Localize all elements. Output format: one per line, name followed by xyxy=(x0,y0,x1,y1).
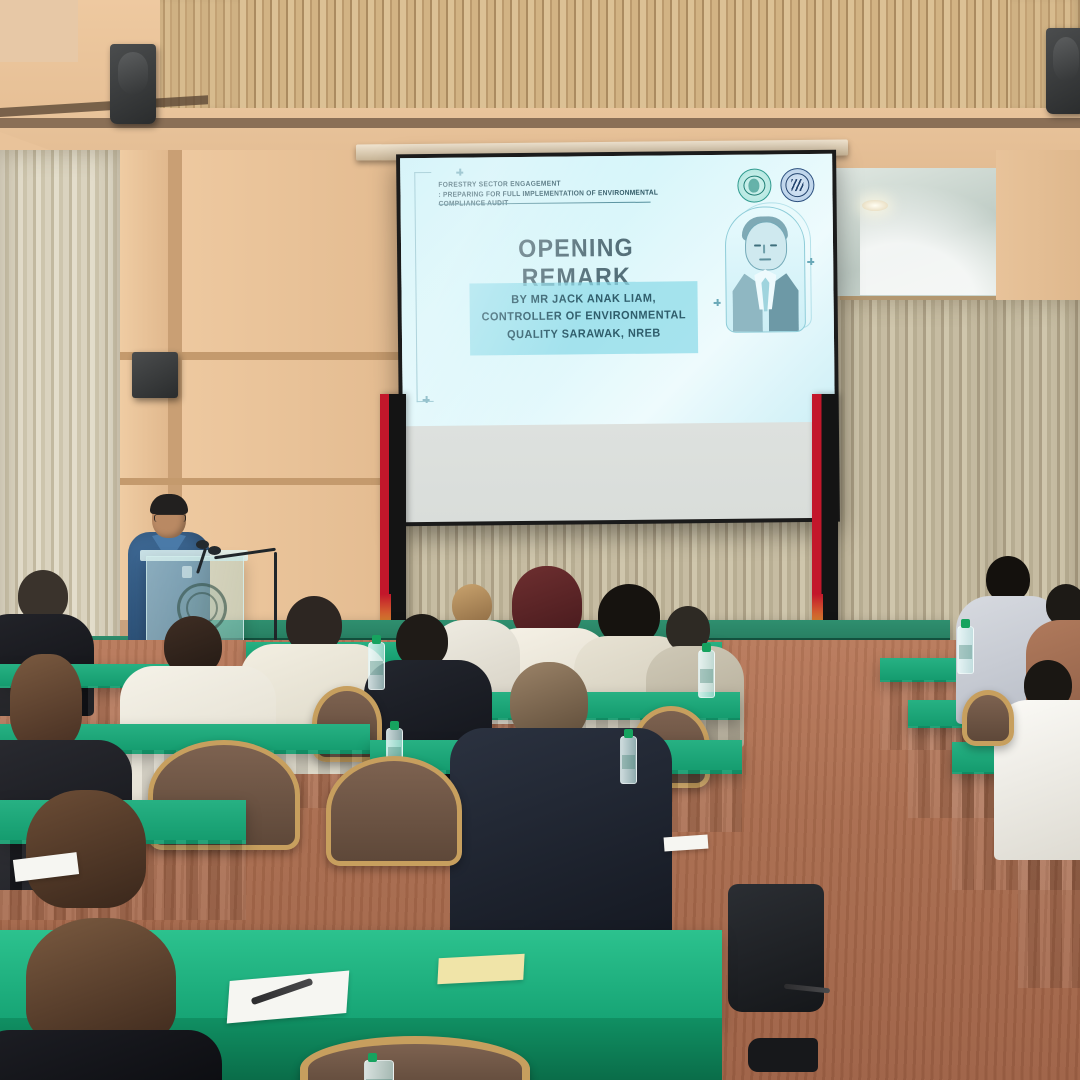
portrait-eye-right xyxy=(770,244,777,246)
portrait-arch-frame xyxy=(725,206,806,333)
portrait-nose xyxy=(763,244,765,253)
chair xyxy=(326,756,462,866)
ceiling-beam xyxy=(0,118,1080,128)
portrait-eye-left xyxy=(754,244,761,246)
ceiling-wood-slats-inner xyxy=(240,0,1010,112)
slide-bracket-decor xyxy=(414,172,433,402)
sarawak-flag-left xyxy=(380,394,406,640)
plus-tick-icon xyxy=(423,396,430,403)
portrait-body xyxy=(732,265,799,332)
microphone-head-left xyxy=(196,540,209,549)
slide-logo-group xyxy=(737,168,814,203)
water-bottle xyxy=(364,1060,394,1080)
upper-wall-left-corner xyxy=(0,0,78,62)
shoe xyxy=(748,1038,818,1072)
plus-tick-icon xyxy=(714,299,721,306)
column-speaker-left xyxy=(132,352,178,398)
slide-subtitle-line3: QUALITY SARAWAK, NREB xyxy=(476,325,693,345)
screen-surface: FORESTRY SECTOR ENGAGEMENT : PREPARING F… xyxy=(400,154,836,523)
water-bottle xyxy=(620,736,637,784)
microphone-head-right xyxy=(208,546,221,555)
slide-footer xyxy=(443,394,499,410)
conference-hall-photo: FORESTRY SECTOR ENGAGEMENT : PREPARING F… xyxy=(0,0,1080,1080)
portrait-head xyxy=(745,221,788,270)
slide-subtitle-line2: CONTROLLER OF ENVIRONMENTAL xyxy=(475,307,692,327)
wall-trim-lower xyxy=(120,478,405,485)
note-card xyxy=(437,954,524,985)
wall-speaker-left xyxy=(110,44,156,124)
backpack xyxy=(728,884,824,1012)
nreb-logo-icon xyxy=(737,168,771,202)
sarawak-flag-right xyxy=(812,394,838,640)
microphone-stand-pole xyxy=(274,552,277,652)
plus-tick-icon xyxy=(456,169,463,176)
ceiling-spotlight xyxy=(862,200,888,211)
water-bottle xyxy=(957,626,974,674)
table-skirt xyxy=(1018,838,1080,988)
speaker-portrait-illustration xyxy=(725,206,804,331)
slide-footer-line2 xyxy=(443,402,499,410)
wall-speaker-right xyxy=(1046,28,1080,114)
portrait-mouth xyxy=(759,258,771,260)
slide-header-line2: : PREPARING FOR FULL IMPLEMENTATION OF E… xyxy=(438,187,677,209)
speaker-eyeglasses xyxy=(154,514,186,522)
water-bottle xyxy=(368,642,385,690)
slide-subtitle-box: BY MR JACK ANAK LIAM, CONTROLLER OF ENVI… xyxy=(469,281,698,355)
forestry-logo-icon xyxy=(780,168,814,202)
projection-screen: FORESTRY SECTOR ENGAGEMENT : PREPARING F… xyxy=(396,150,840,527)
presentation-slide: FORESTRY SECTOR ENGAGEMENT : PREPARING F… xyxy=(400,154,835,427)
plus-tick-icon xyxy=(807,258,814,265)
water-bottle xyxy=(698,650,715,698)
chair xyxy=(962,690,1014,746)
chair xyxy=(300,1036,530,1080)
